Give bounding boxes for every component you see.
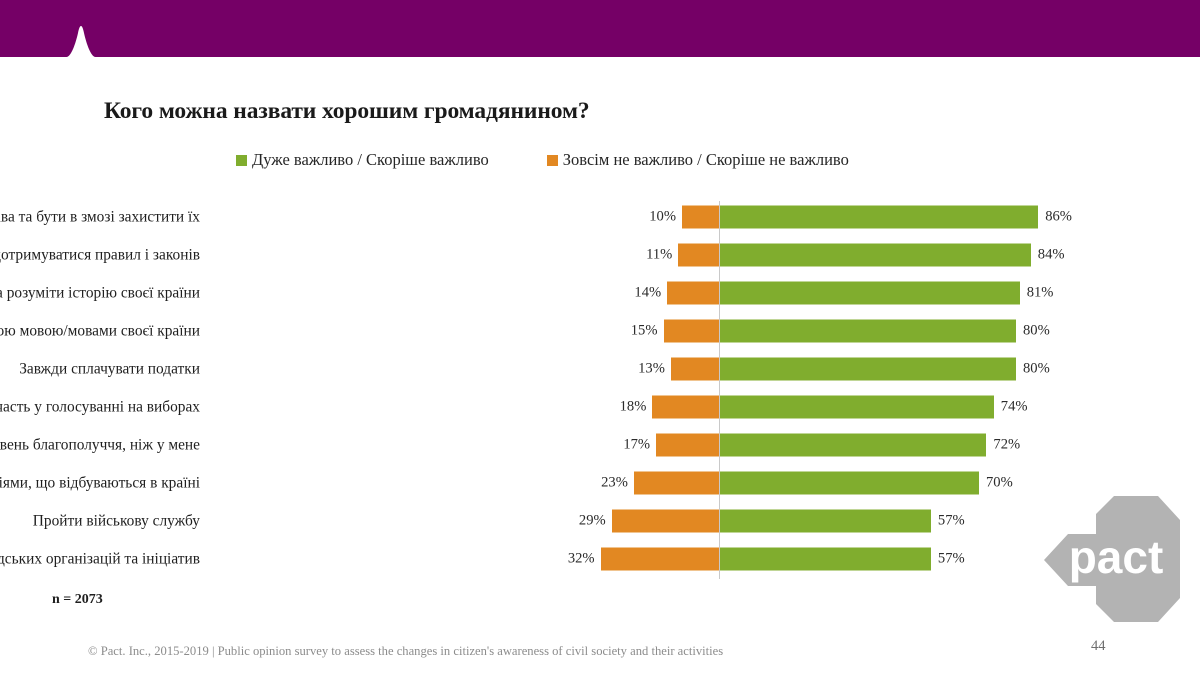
bar-negative <box>667 282 719 305</box>
chart-row: Вільно володіти офіційною мовою/мовами с… <box>0 312 1200 350</box>
bar-positive <box>720 472 979 495</box>
bar-value-positive: 57% <box>938 513 965 530</box>
chart-row: Добре знати та розуміти історію своєї кр… <box>0 274 1200 312</box>
chart-row: Допомагати людям, які мають гірший рівен… <box>0 426 1200 464</box>
category-label: Пройти військову службу <box>0 511 200 530</box>
bar-positive <box>720 358 1016 381</box>
footer-copyright: © Pact. Inc., 2015-2019 | Public opinion… <box>88 644 723 659</box>
bar-negative <box>652 396 719 419</box>
bar-value-positive: 84% <box>1038 247 1065 264</box>
bar-negative <box>664 320 720 343</box>
bar-value-positive: 74% <box>1001 399 1028 416</box>
bar-value-negative: 23% <box>592 475 628 492</box>
bar-value-negative: 17% <box>614 437 650 454</box>
bar-negative <box>601 548 719 571</box>
chart-row: Завжди сплачувати податки13%80% <box>0 350 1200 388</box>
category-label: Добре знати свої права та бути в змозі з… <box>0 207 200 226</box>
category-label: Завжди дотримуватися правил і законів <box>0 245 200 264</box>
bar-positive <box>720 282 1020 305</box>
category-label: Допомагати людям, які мають гірший рівен… <box>0 435 200 454</box>
bar-value-negative: 29% <box>570 513 606 530</box>
legend-item-label: Зовсім не важливо / Скоріше не важливо <box>563 150 849 170</box>
bar-value-positive: 80% <box>1023 323 1050 340</box>
bar-value-negative: 11% <box>636 247 672 264</box>
chart-legend: Дуже важливо / Скоріше важливо Зовсім не… <box>236 150 849 170</box>
category-label: Завжди сплачувати податки <box>0 359 200 378</box>
bar-value-negative: 18% <box>610 399 646 416</box>
bar-value-negative: 10% <box>640 209 676 226</box>
square-swatch-icon <box>236 155 247 166</box>
sample-size-note: n = 2073 <box>52 592 103 608</box>
bar-value-positive: 57% <box>938 551 965 568</box>
bar-positive <box>720 244 1031 267</box>
bar-value-positive: 86% <box>1045 209 1072 226</box>
bar-positive <box>720 320 1016 343</box>
header-band-shape <box>0 0 1200 57</box>
bar-negative <box>682 206 719 229</box>
legend-item-label: Дуже важливо / Скоріше важливо <box>252 150 489 170</box>
category-label: Вільно володіти офіційною мовою/мовами с… <box>0 321 200 340</box>
bar-value-positive: 70% <box>986 475 1013 492</box>
bar-positive <box>720 548 931 571</box>
bar-positive <box>720 510 931 533</box>
header-band <box>0 0 1200 57</box>
category-label: Брати активну участь у діяльності громад… <box>0 549 200 568</box>
diverging-bar-chart: Добре знати свої права та бути в змозі з… <box>0 198 1200 588</box>
pact-logo: pact <box>1040 494 1186 628</box>
chart-row: Пройти військову службу29%57% <box>0 502 1200 540</box>
bar-positive <box>720 206 1038 229</box>
chart-row: Брати активну участь у діяльності громад… <box>0 540 1200 578</box>
legend-item-important[interactable]: Дуже важливо / Скоріше важливо <box>236 150 489 170</box>
chart-row: Добре знати свої права та бути в змозі з… <box>0 198 1200 236</box>
bar-value-positive: 80% <box>1023 361 1050 378</box>
square-swatch-icon <box>547 155 558 166</box>
chart-row: Завжди брати участь у голосуванні на виб… <box>0 388 1200 426</box>
bar-value-negative: 14% <box>625 285 661 302</box>
legend-item-not-important[interactable]: Зовсім не важливо / Скоріше не важливо <box>547 150 849 170</box>
bar-negative <box>634 472 719 495</box>
bar-negative <box>656 434 719 457</box>
bar-value-negative: 13% <box>629 361 665 378</box>
chart-row: Завжди дотримуватися правил і законів11%… <box>0 236 1200 274</box>
category-label: Стежити за новинами та подіями, що відбу… <box>0 473 200 492</box>
bar-positive <box>720 396 994 419</box>
bar-negative <box>612 510 719 533</box>
category-label: Завжди брати участь у голосуванні на виб… <box>0 397 200 416</box>
page-number: 44 <box>1091 638 1106 655</box>
bar-value-positive: 72% <box>993 437 1020 454</box>
bar-negative <box>671 358 719 381</box>
bar-value-negative: 32% <box>559 551 595 568</box>
bar-negative <box>678 244 719 267</box>
page-title: Кого можна назвати хорошим громадянином? <box>104 98 590 125</box>
chart-row: Стежити за новинами та подіями, що відбу… <box>0 464 1200 502</box>
bar-positive <box>720 434 986 457</box>
pact-logo-text: pact <box>1069 531 1164 583</box>
category-label: Добре знати та розуміти історію своєї кр… <box>0 283 200 302</box>
bar-value-negative: 15% <box>622 323 658 340</box>
bar-value-positive: 81% <box>1027 285 1054 302</box>
